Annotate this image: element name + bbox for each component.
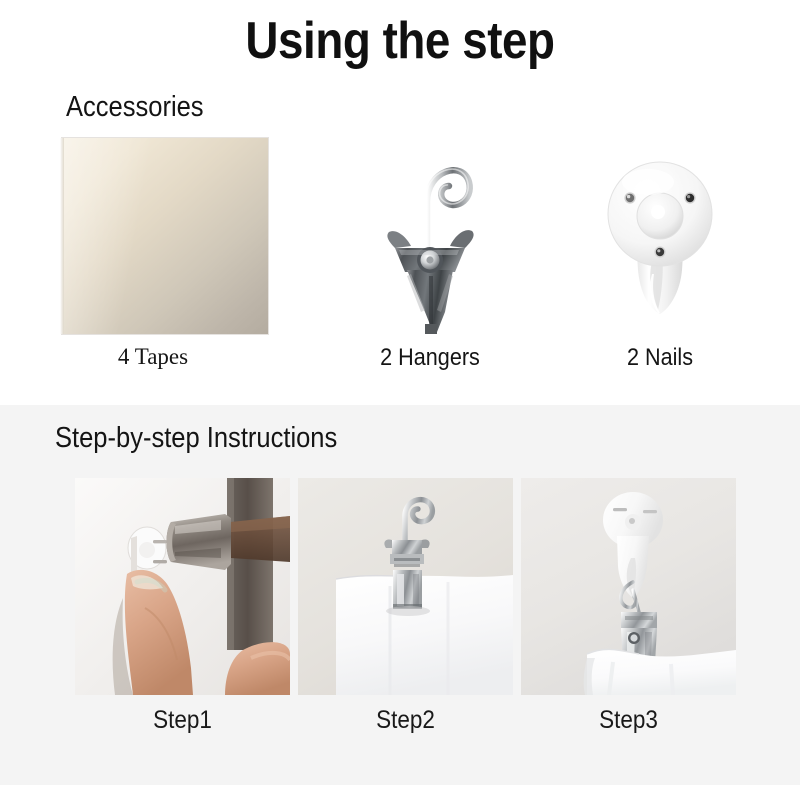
accessory-caption-nails: 2 Nails (557, 344, 764, 372)
step-caption-2: Step2 (309, 706, 503, 735)
accessory-item-hangers: 2 Hangers (315, 130, 545, 390)
step-caption-1: Step1 (86, 706, 280, 735)
step-caption-3: Step3 (532, 706, 726, 735)
infographic-page: Using the step Accessories 4 Tapes (0, 0, 800, 800)
page-title: Using the step (48, 11, 752, 71)
curtain-hung-on-wall-hook-photo (521, 478, 736, 695)
hammering-wall-hook-photo (75, 478, 290, 695)
white-wall-hook-icon (545, 130, 775, 345)
accessories-row: 4 Tapes (0, 130, 800, 390)
accessory-caption-tapes: 4 Tapes (38, 344, 268, 370)
accessory-caption-hangers: 2 Hangers (327, 344, 534, 372)
steps-row: Step1 (0, 478, 800, 758)
step-item-2: Step2 (298, 478, 513, 695)
accessory-item-nails: 2 Nails (545, 130, 775, 390)
adhesive-tape-square-icon (38, 130, 268, 345)
step-item-3: Step3 (521, 478, 736, 695)
clip-hanger-on-curtain-photo (298, 478, 513, 695)
accessory-item-tapes: 4 Tapes (38, 130, 268, 390)
metal-clip-hanger-icon (315, 130, 545, 345)
instructions-heading: Step-by-step Instructions (55, 422, 337, 455)
step-item-1: Step1 (75, 478, 290, 695)
accessories-heading: Accessories (66, 91, 204, 124)
